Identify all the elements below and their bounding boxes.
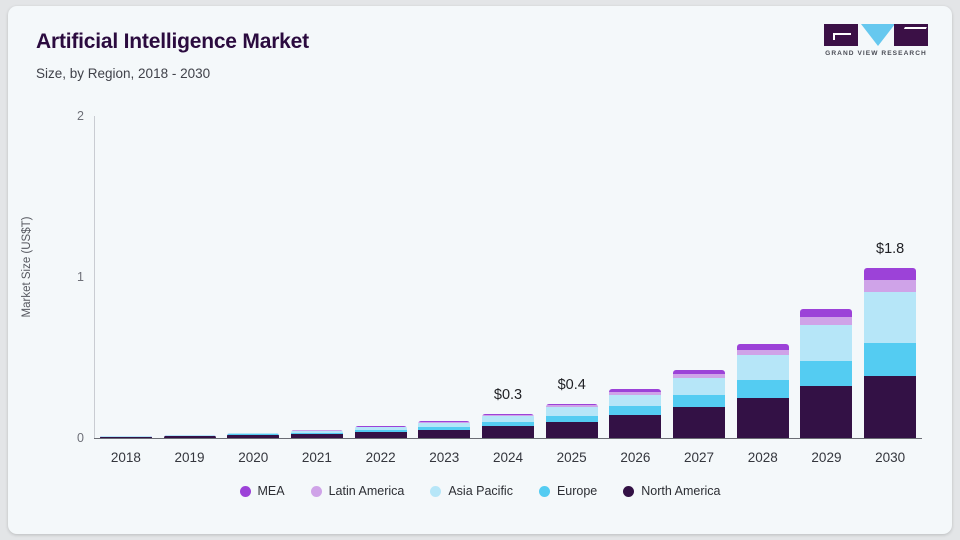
page-subtitle: Size, by Region, 2018 - 2030 [36,66,210,81]
chart-card: Artificial Intelligence Market Size, by … [8,6,952,534]
bar-group[interactable] [164,116,216,438]
stacked-bar[interactable] [291,430,343,438]
bar-segment[interactable] [864,343,916,375]
bar-segment[interactable] [864,376,916,438]
x-tick-label: 2023 [409,450,479,465]
bar-segment[interactable] [227,435,279,438]
stacked-bar[interactable] [737,344,789,438]
stacked-bar[interactable] [673,370,725,438]
legend-swatch-icon [623,486,634,497]
bar-segment[interactable] [673,407,725,438]
bar-group[interactable] [609,116,661,438]
bar-segment[interactable] [673,395,725,408]
legend-item[interactable]: Asia Pacific [430,484,513,498]
stacked-bar[interactable] [864,268,916,438]
legend-swatch-icon [430,486,441,497]
bar-segment[interactable] [737,380,789,398]
bar-segment[interactable] [355,432,407,438]
logo-marks [820,24,932,46]
grand-view-research-logo: GRAND VIEW RESEARCH [820,24,932,64]
bar-segment[interactable] [800,317,852,325]
x-tick-label: 2019 [155,450,225,465]
logo-g-bar [833,33,851,35]
bar-segment[interactable] [800,309,852,317]
x-tick-label: 2030 [855,450,925,465]
stacked-bar[interactable] [100,436,152,438]
bar-group[interactable] [418,116,470,438]
bar-group[interactable] [355,116,407,438]
stacked-bar[interactable] [546,404,598,438]
legend-label: Latin America [329,484,405,498]
legend-label: Europe [557,484,597,498]
legend-label: MEA [258,484,285,498]
bar-segment[interactable] [291,434,343,438]
x-tick-label: 2026 [600,450,670,465]
x-tick-label: 2022 [346,450,416,465]
legend-label: North America [641,484,720,498]
page-title: Artificial Intelligence Market [36,30,309,54]
legend-item[interactable]: North America [623,484,720,498]
x-tick-label: 2028 [728,450,798,465]
y-tick-label: 2 [24,109,84,123]
legend-swatch-icon [240,486,251,497]
stacked-bar[interactable] [800,309,852,438]
bar-value-label: $0.4 [546,377,598,393]
bar-group[interactable] [291,116,343,438]
bar-group[interactable] [737,116,789,438]
bar-segment[interactable] [546,407,598,415]
bar-segment[interactable] [737,398,789,438]
bar-value-label: $1.8 [864,241,916,257]
legend-item[interactable]: Latin America [311,484,405,498]
legend-item[interactable]: Europe [539,484,597,498]
bar-segment[interactable] [609,395,661,407]
legend-swatch-icon [539,486,550,497]
bar-segment[interactable] [800,361,852,386]
bar-segment[interactable] [800,386,852,438]
bar-segment[interactable] [609,406,661,415]
bar-segment[interactable] [864,268,916,280]
bar-segment[interactable] [864,280,916,292]
stacked-bar[interactable] [355,426,407,438]
bar-value-label: $0.3 [482,387,534,403]
bar-segment[interactable] [100,437,152,438]
stacked-bar[interactable] [227,433,279,438]
bar-segment[interactable] [737,355,789,380]
bar-segment[interactable] [864,292,916,344]
x-tick-label: 2024 [473,450,543,465]
legend-swatch-icon [311,486,322,497]
x-tick-label: 2029 [791,450,861,465]
x-tick-label: 2027 [664,450,734,465]
x-tick-label: 2020 [218,450,288,465]
bar-segment[interactable] [418,430,470,438]
stacked-bar[interactable] [164,435,216,438]
stacked-bar[interactable] [482,414,534,438]
bar-segment[interactable] [609,415,661,438]
x-tick-label: 2025 [537,450,607,465]
logo-letter-r-icon [894,24,928,46]
bar-group[interactable] [800,116,852,438]
logo-letter-v-icon [861,24,895,46]
legend-label: Asia Pacific [448,484,513,498]
stacked-bar[interactable] [609,389,661,438]
y-tick-label: 1 [24,270,84,284]
bar-group[interactable] [100,116,152,438]
chart-legend: MEALatin AmericaAsia PacificEuropeNorth … [8,484,952,498]
bar-segment[interactable] [482,426,534,438]
bar-group[interactable] [864,116,916,438]
bar-segment[interactable] [800,325,852,361]
logo-wordmark: GRAND VIEW RESEARCH [820,50,932,57]
bar-group[interactable] [673,116,725,438]
legend-item[interactable]: MEA [240,484,285,498]
y-tick-label: 0 [24,431,84,445]
x-axis-line [94,438,922,439]
bar-segment[interactable] [164,436,216,438]
x-tick-label: 2018 [91,450,161,465]
y-axis-title: Market Size (US$T) [21,172,33,362]
bar-segment[interactable] [546,422,598,438]
bar-group[interactable] [227,116,279,438]
x-tick-label: 2021 [282,450,352,465]
logo-letter-g-icon [824,24,858,46]
bar-segment[interactable] [673,378,725,395]
logo-g-stem [833,33,835,40]
stacked-bar[interactable] [418,421,470,438]
logo-r-slash [897,27,927,43]
